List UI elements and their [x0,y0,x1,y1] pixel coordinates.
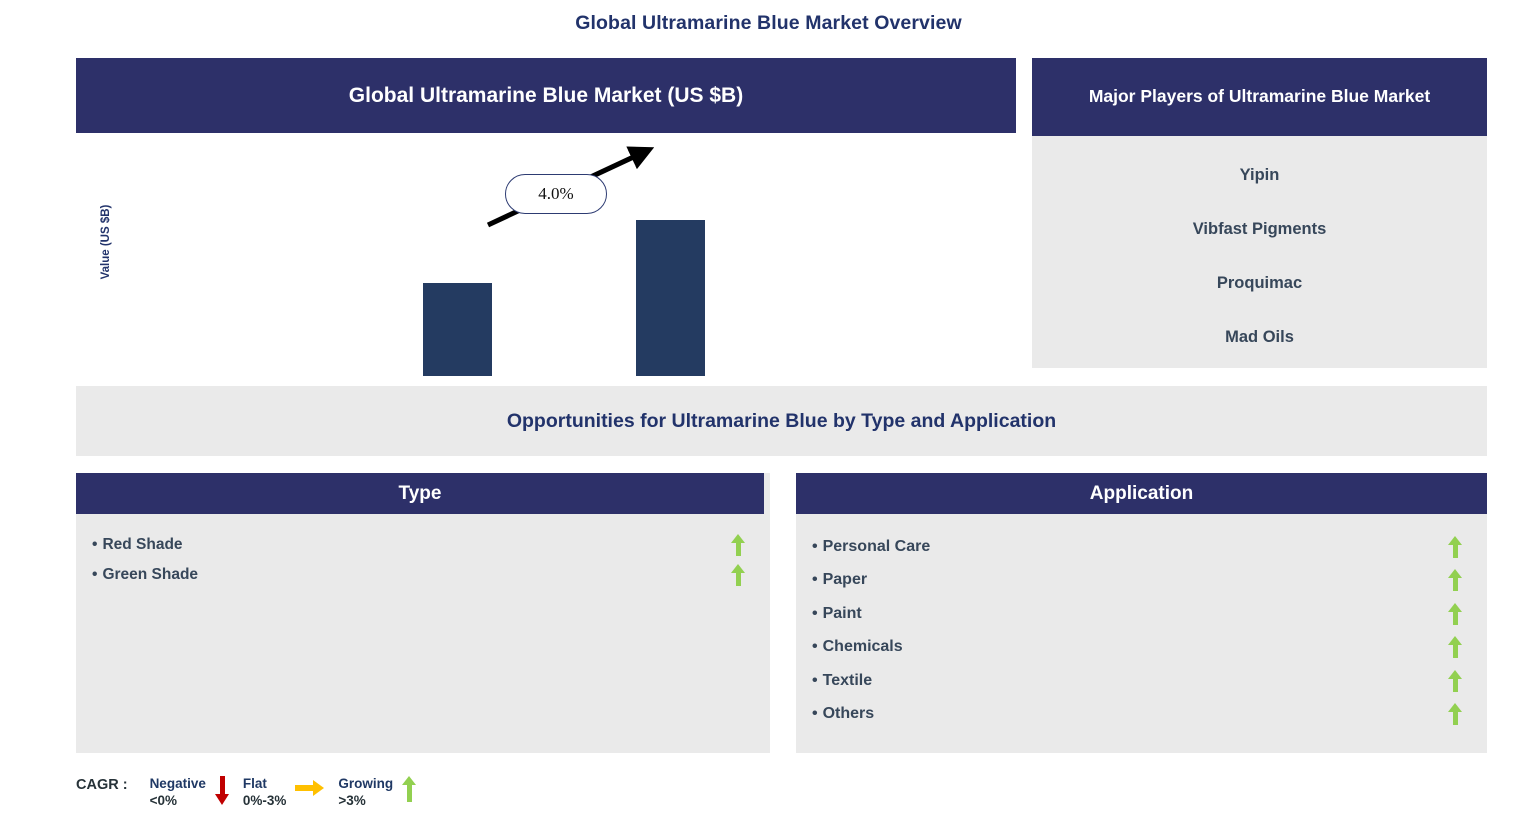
application-item-text-3: Chemicals [823,638,903,655]
application-panel-title: Application [1090,483,1193,505]
bullet-icon: • [812,605,818,623]
application-panel-header: Application [796,473,1487,514]
application-panel-list: •Personal Care •Paper •Paint •Ch [796,514,1487,731]
cagr-legend-entry-negative: Negative <0% [150,775,239,811]
application-item-text-4: Textile [823,672,873,689]
type-item-text-0: Red Shade [102,536,182,553]
opportunities-banner-label: Opportunities for Ultramarine Blue by Ty… [507,410,1056,433]
chart-bar-2024 [423,283,492,376]
cagr-legend-flat-label: Flat [243,776,267,791]
application-item-label-5: •Others [812,705,874,723]
cagr-callout-label: 4.0% [538,184,573,204]
bullet-icon: • [92,536,97,554]
opportunities-banner: Opportunities for Ultramarine Blue by Ty… [76,386,1487,456]
list-item: Vibfast Pigments [1032,202,1487,256]
application-item-text-5: Others [823,705,875,722]
list-item: Yipin [1032,148,1487,202]
trend-up-arrow-icon [1448,536,1463,558]
application-item-label-1: •Paper [812,571,867,589]
application-item-label-4: •Textile [812,672,872,690]
page-title: Global Ultramarine Blue Market Overview [0,12,1537,35]
list-item: •Paint [796,597,1487,631]
cagr-legend-flat-range: 0%-3% [243,792,287,809]
application-item-label-3: •Chemicals [812,638,903,656]
chart-growth-arrow-icon [76,133,1016,376]
type-panel-title: Type [399,483,442,505]
list-item: •Paper [796,564,1487,598]
list-item: Proquimac [1032,256,1487,310]
arrow-up-icon [402,775,417,807]
trend-up-arrow-icon [1448,603,1463,625]
cagr-legend-growing-text: Growing >3% [338,775,393,809]
list-item: •Personal Care [796,530,1487,564]
application-panel: Application •Personal Care •Paper •Paint [796,473,1487,753]
cagr-legend-negative-label: Negative [150,776,206,791]
major-players-list: Yipin Vibfast Pigments Proquimac Mad Oil… [1032,136,1487,364]
list-item: •Green Shade [76,560,770,590]
list-item: Mad Oils [1032,310,1487,364]
chart-bar-2031 [636,220,705,376]
cagr-legend-entry-flat: Flat 0%-3% [243,775,335,809]
bullet-icon: • [812,705,818,723]
bullet-icon: • [812,538,818,556]
list-item: •Textile [796,664,1487,698]
bullet-icon: • [812,571,818,589]
type-item-text-1: Green Shade [102,566,198,583]
trend-up-arrow-icon [1448,670,1463,692]
type-item-label-1: •Green Shade [92,566,198,584]
market-chart-card-header: Global Ultramarine Blue Market (US $B) [76,58,1016,133]
arrow-down-icon [215,775,230,811]
cagr-legend-entry-growing: Growing >3% [338,775,426,809]
application-item-text-1: Paper [823,571,867,588]
application-item-label-2: •Paint [812,605,862,623]
list-item: •Red Shade [76,530,770,560]
market-bar-chart: Value (US $B) 2024 2031 4.0% [76,133,1016,376]
trend-up-arrow-icon [1448,703,1463,725]
major-players-card-header: Major Players of Ultramarine Blue Market [1032,58,1487,136]
list-item: •Chemicals [796,631,1487,665]
cagr-callout: 4.0% [505,174,607,214]
cagr-legend-negative-range: <0% [150,792,206,809]
trend-up-arrow-icon [1448,636,1463,658]
application-item-text-0: Personal Care [823,538,931,555]
cagr-legend-negative-text: Negative <0% [150,775,206,809]
major-players-card-title: Major Players of Ultramarine Blue Market [1089,86,1430,108]
cagr-legend-growing-range: >3% [338,792,393,809]
cagr-legend-growing-label: Growing [338,776,393,791]
type-panel-list: •Red Shade •Green Shade [76,514,770,590]
major-players-card: Major Players of Ultramarine Blue Market… [1032,58,1487,368]
bullet-icon: • [812,638,818,656]
list-item: •Others [796,698,1487,732]
bullet-icon: • [812,672,818,690]
cagr-legend-flat-text: Flat 0%-3% [243,775,287,809]
type-panel: Type •Red Shade •Green Shade [76,473,770,753]
market-chart-card-title: Global Ultramarine Blue Market (US $B) [349,84,743,108]
bullet-icon: • [92,566,97,584]
trend-up-arrow-icon [731,564,746,586]
trend-up-arrow-icon [1448,569,1463,591]
application-item-label-0: •Personal Care [812,538,930,556]
market-chart-card: Global Ultramarine Blue Market (US $B) V… [76,58,1016,376]
cagr-legend-title: CAGR : [76,775,128,794]
type-item-label-0: •Red Shade [92,536,183,554]
application-item-text-2: Paint [823,605,862,622]
cagr-legend: CAGR : Negative <0% Flat 0%-3% Growing >… [76,775,576,821]
trend-up-arrow-icon [731,534,746,556]
chart-y-axis-label: Value (US $B) [100,182,112,302]
type-panel-header: Type [76,473,764,514]
arrow-right-icon [295,775,325,801]
